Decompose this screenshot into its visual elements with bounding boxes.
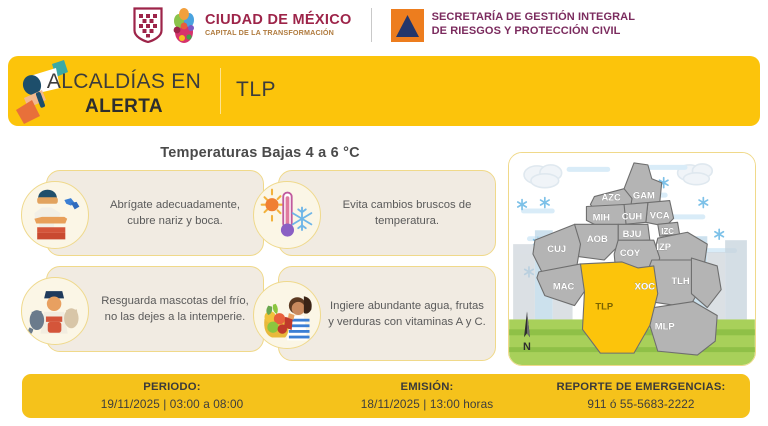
- map-label-mlp: MLP: [655, 320, 675, 331]
- map-label-izp: IZP: [656, 241, 671, 252]
- advice-card: Resguarda mascotas del frío, no las deje…: [46, 266, 264, 352]
- sgirpc-wordmark: SECRETARÍA DE GESTIÓN INTEGRAL DE RIESGO…: [432, 11, 635, 39]
- cdmx-logo-block: CIUDAD DE MÉXICO CAPITAL DE LA TRANSFORM…: [133, 6, 352, 44]
- banner-divider: [220, 68, 221, 114]
- cdmx-alert-map[interactable]: AZC GAM MIH CUH VCA IZC BJU AOB CUJ COY …: [508, 152, 756, 366]
- temperature-title: Temperaturas Bajas 4 a 6 °C: [30, 145, 490, 161]
- map-label-izc: IZC: [661, 227, 674, 236]
- cdmx-shield-icon: [133, 7, 163, 43]
- advice-card: Evita cambios bruscos de temperatura.: [278, 170, 496, 256]
- sgirpc-line-1: SECRETARÍA DE GESTIÓN INTEGRAL: [432, 11, 635, 25]
- map-label-cuj: CUJ: [547, 243, 566, 254]
- hydration-fruits-icon: [253, 281, 321, 349]
- cdmx-subtitle: CAPITAL DE LA TRANSFORMACIÓN: [205, 29, 352, 38]
- advice-card-text: Evita cambios bruscos de temperatura.: [327, 197, 487, 229]
- map-label-cuh: CUH: [622, 210, 643, 221]
- banner-line-2: ALERTA: [34, 95, 214, 119]
- advice-card-text: Abrígate adecuadamente, cubre nariz y bo…: [95, 197, 255, 229]
- map-label-tlh: TLH: [671, 275, 689, 286]
- banner-heading: ALCALDÍAS EN ALERTA: [34, 69, 214, 119]
- compass-north-label: N: [523, 341, 531, 353]
- advice-card: Ingiere abundante agua, frutas y verdura…: [278, 266, 496, 361]
- footer-emergency: REPORTE DE EMERGENCIAS: 911 ó 55-5683-22…: [532, 379, 750, 412]
- advice-card: Abrígate adecuadamente, cubre nariz y bo…: [46, 170, 264, 256]
- cdmx-title: CIUDAD DE MÉXICO: [205, 13, 352, 28]
- map-label-mih: MIH: [593, 211, 610, 222]
- map-label-mac: MAC: [553, 281, 575, 292]
- sgirpc-line-2: DE RIESGOS Y PROTECCIÓN CIVIL: [432, 25, 635, 39]
- map-label-xoc: XOC: [635, 281, 656, 292]
- map-label-gam: GAM: [633, 190, 655, 201]
- advice-card-text: Resguarda mascotas del frío, no las deje…: [95, 293, 255, 325]
- sgirpc-logo-block: SECRETARÍA DE GESTIÓN INTEGRAL DE RIESGO…: [391, 9, 635, 42]
- header-divider: [371, 8, 372, 42]
- banner-municipalities: TLP: [236, 78, 276, 102]
- alert-infographic: CIUDAD DE MÉXICO CAPITAL DE LA TRANSFORM…: [0, 0, 768, 426]
- map-label-bju: BJU: [623, 228, 642, 239]
- footer-period-value: 19/11/2025 | 03:00 a 08:00: [22, 396, 322, 413]
- map-label-azc: AZC: [602, 192, 622, 203]
- footer-bar: PERIODO: 19/11/2025 | 03:00 a 08:00 EMIS…: [22, 374, 750, 418]
- footer-emergency-heading: REPORTE DE EMERGENCIAS:: [532, 379, 750, 395]
- winter-clothing-icon: [21, 181, 89, 249]
- alert-banner: ALCALDÍAS EN ALERTA TLP: [8, 56, 760, 126]
- footer-emission-value: 18/11/2025 | 13:00 horas: [322, 396, 532, 413]
- thermometer-sun-snowflake-icon: [253, 181, 321, 249]
- footer-emission-heading: EMISIÓN:: [322, 379, 532, 395]
- footer-period-heading: PERIODO:: [22, 379, 322, 395]
- footer-emission: EMISIÓN: 18/11/2025 | 13:00 horas: [322, 379, 532, 412]
- map-label-aob: AOB: [587, 233, 608, 244]
- advice-card-text: Ingiere abundante agua, frutas y verdura…: [327, 297, 487, 329]
- map-svg: AZC GAM MIH CUH VCA IZC BJU AOB CUJ COY …: [509, 153, 755, 365]
- cdmx-wordmark: CIUDAD DE MÉXICO CAPITAL DE LA TRANSFORM…: [205, 13, 352, 38]
- protection-triangle-icon: [391, 9, 424, 42]
- advice-cards: Abrígate adecuadamente, cubre nariz y bo…: [22, 168, 498, 368]
- cdmx-emblem-icon: [170, 6, 198, 44]
- map-label-vca: VCA: [650, 209, 670, 220]
- page-header: CIUDAD DE MÉXICO CAPITAL DE LA TRANSFORM…: [0, 0, 768, 50]
- footer-emergency-value[interactable]: 911 ó 55-5683-2222: [532, 396, 750, 413]
- pets-warmth-icon: [21, 277, 89, 345]
- map-label-tlp: TLP: [595, 301, 613, 312]
- map-label-coy: COY: [620, 247, 641, 258]
- footer-period: PERIODO: 19/11/2025 | 03:00 a 08:00: [22, 379, 322, 412]
- banner-line-1: ALCALDÍAS EN: [34, 69, 214, 95]
